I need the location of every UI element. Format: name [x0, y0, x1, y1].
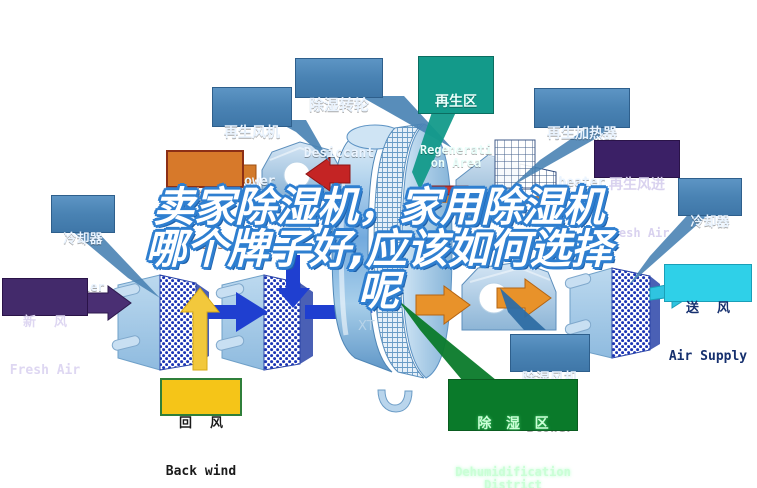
svg-text:XT: XT	[358, 319, 375, 334]
label-fresh-air: 新 风 Fresh Air	[2, 278, 88, 316]
label-regen-area: 再生区 Regenerati on Area	[418, 56, 494, 114]
label-regen-fresh-air: 再生风进 Fresh Air	[594, 140, 680, 178]
label-air-supply: 送 风 Air Supply	[664, 264, 752, 302]
label-dehum-district: 除 湿 区 Dehumidification District	[448, 379, 578, 431]
label-cooler-left: 冷却器 Cooler	[51, 195, 115, 233]
label-dehum-blower: 除湿风机 Blower	[510, 334, 590, 372]
label-exhaust: 再生风出 Exhaust	[166, 150, 244, 188]
label-desiccant: 除湿转轮 Desiccant	[295, 58, 383, 98]
label-regen-heater: 再生加热器 heater	[534, 88, 630, 128]
label-back-wind: 回 风 Back wind	[160, 378, 242, 416]
dehumidifier-diagram: XT	[0, 0, 757, 488]
label-regen-blower: 再生风机 Blower	[212, 87, 292, 127]
label-cooler-right: 冷却器 Cooler	[678, 178, 742, 216]
